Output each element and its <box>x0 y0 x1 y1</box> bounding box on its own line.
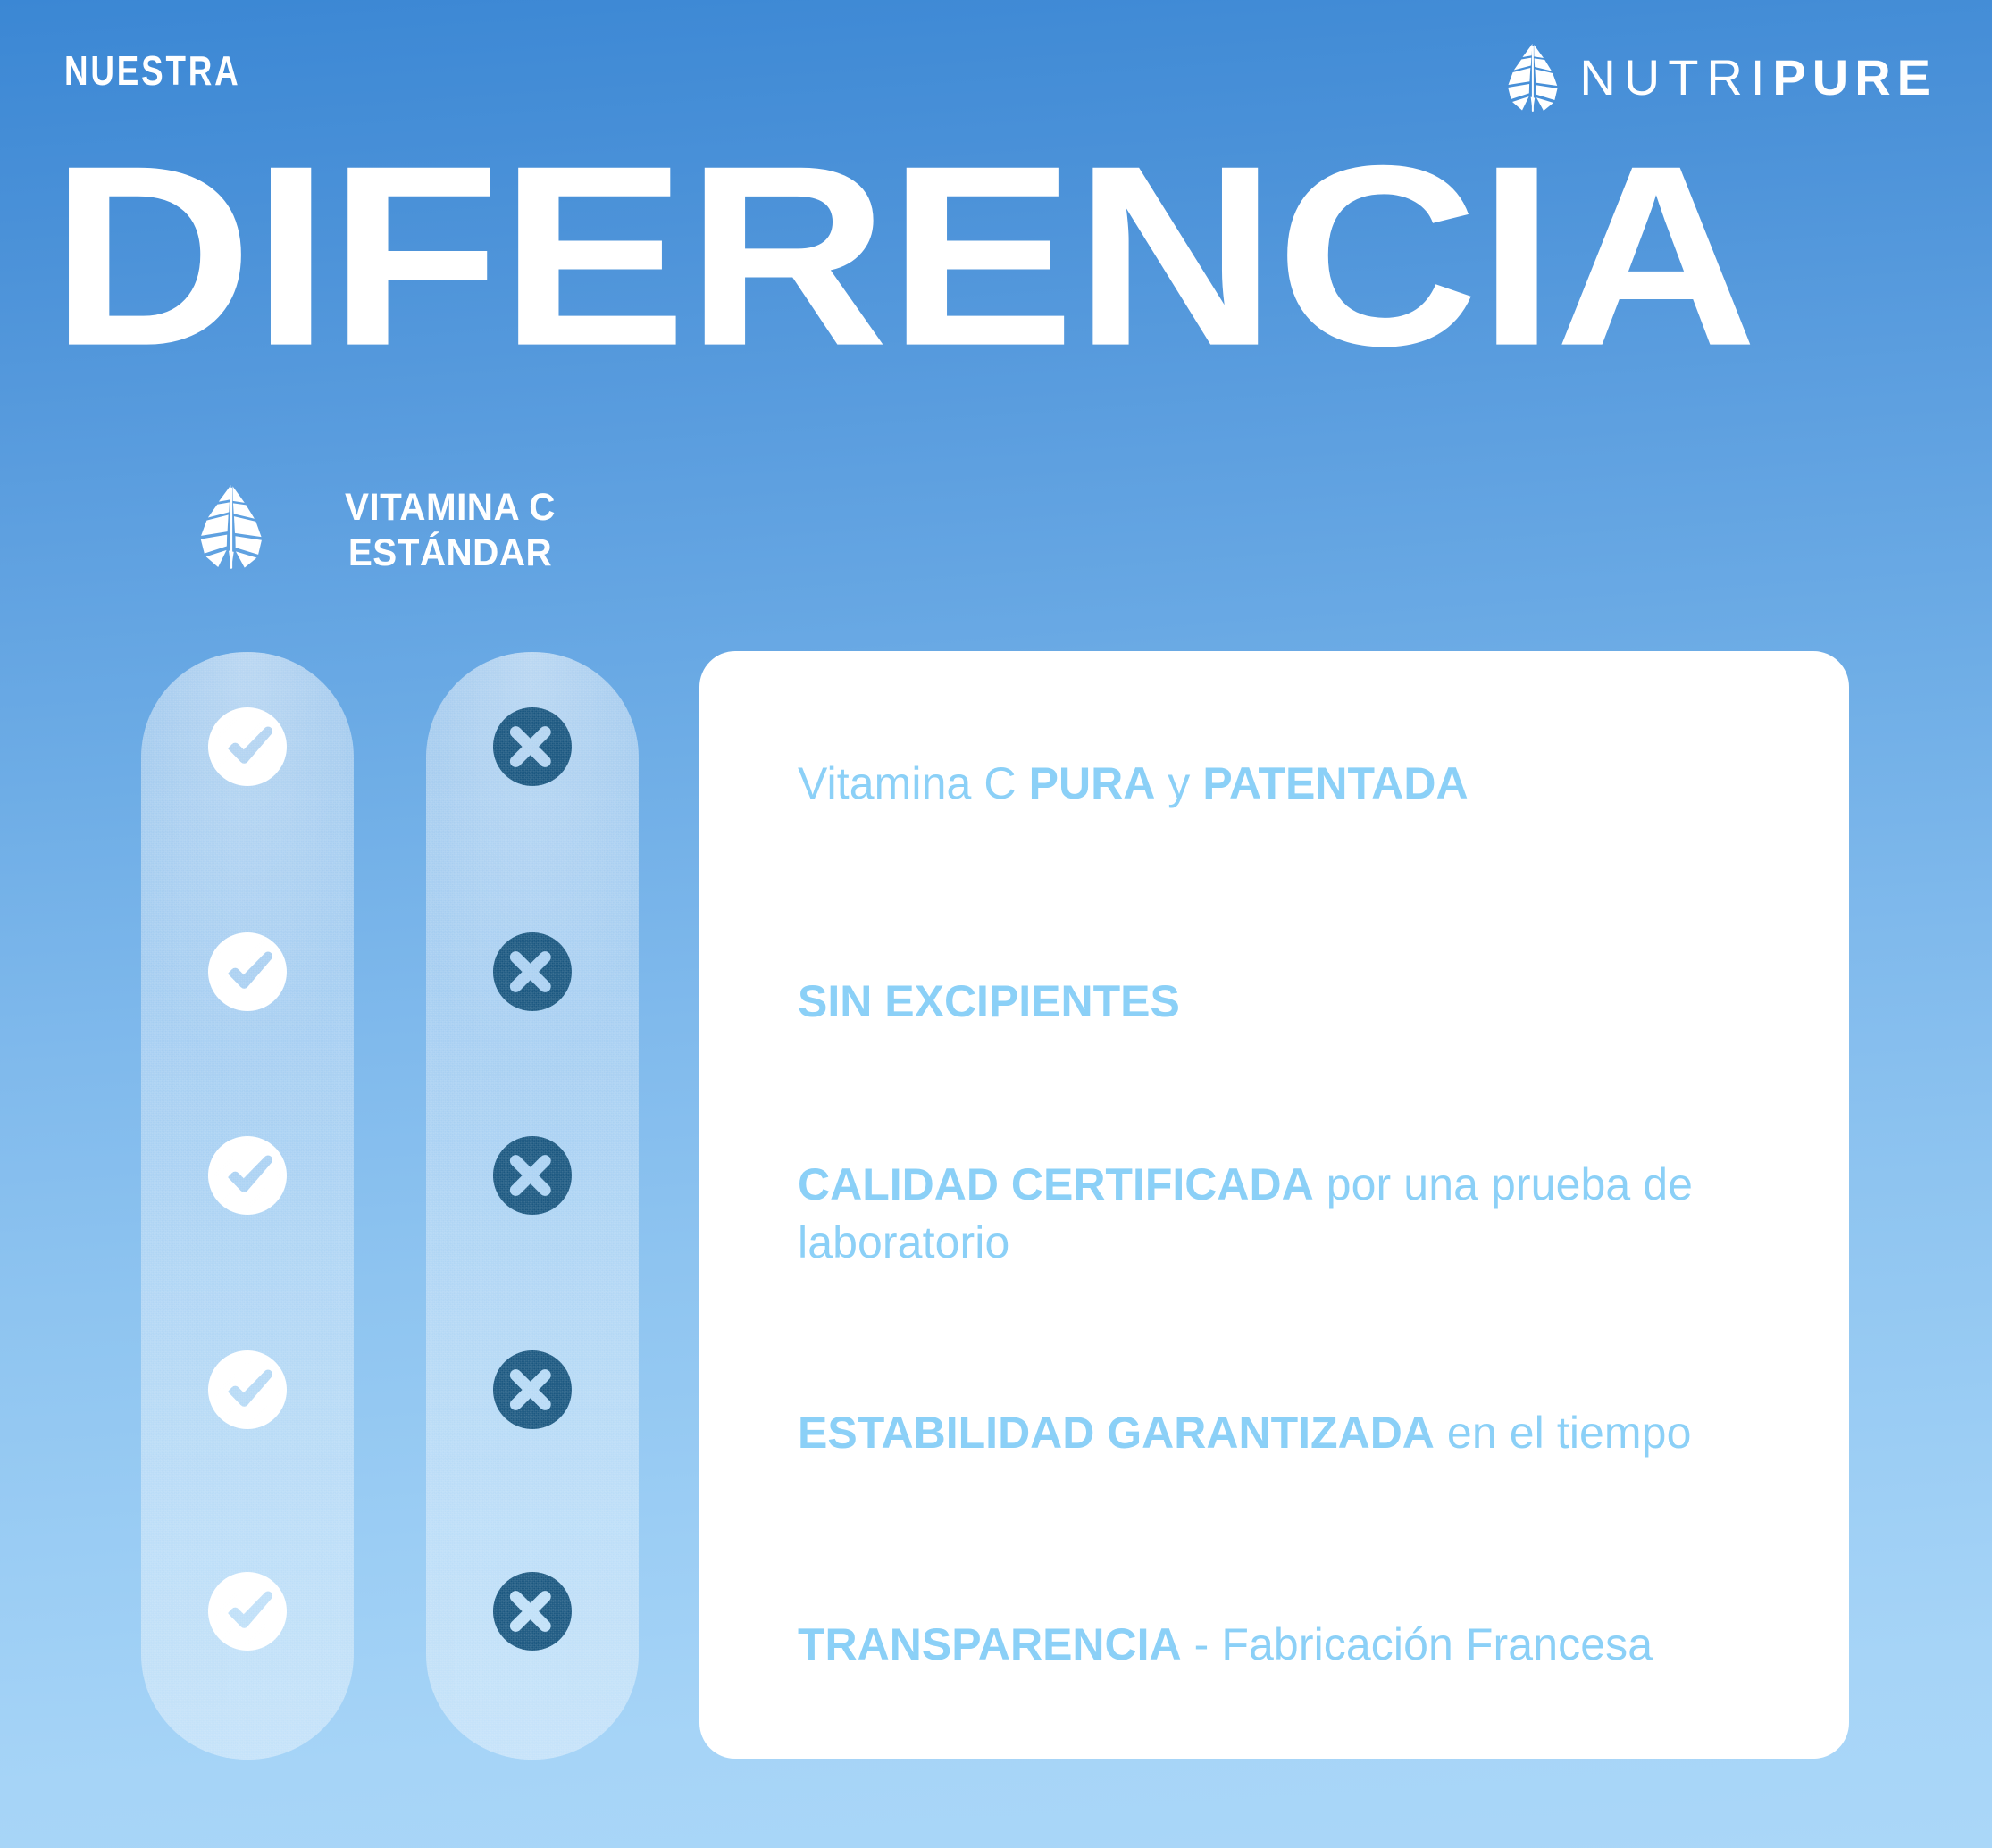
check-icon <box>206 1134 289 1217</box>
check-icon <box>206 931 289 1013</box>
features-card: Vitamina C PURA y PATENTADA SIN EXCIPIEN… <box>699 651 1849 1759</box>
cross-icon <box>491 706 573 788</box>
cross-icon <box>491 931 573 1013</box>
cross-icon <box>491 1570 573 1652</box>
column-standard <box>426 652 639 1760</box>
check-icon <box>206 1349 289 1431</box>
brand-name-light: NUTRI <box>1579 49 1772 105</box>
check-icon <box>206 1570 289 1652</box>
column-header-standard-line1: VITAMINA C <box>324 485 576 531</box>
column-header-standard: VITAMINA C ESTÁNDAR <box>324 485 576 575</box>
column-header-leaf-icon <box>198 478 264 576</box>
brand-name: NUTRIPURE <box>1579 53 1937 103</box>
header: NUESTRA NUTRIPURE DIFERENCIA <box>0 0 1992 447</box>
cross-icon <box>491 1134 573 1217</box>
feature-row-text: TRANSPARENCIA - Fabricación Francesa <box>798 1616 1762 1674</box>
check-icon <box>206 706 289 788</box>
feature-row-text: Vitamina C PURA y PATENTADA <box>798 755 1762 813</box>
feature-row-text: SIN EXCIPIENTES <box>798 973 1762 1031</box>
feature-row-text: ESTABILIDAD GARANTIZADA en el tiempo <box>798 1404 1762 1462</box>
eyebrow-label: NUESTRA <box>64 46 240 95</box>
page-title: DIFERENCIA <box>50 134 1756 378</box>
column-header-standard-line2: ESTÁNDAR <box>324 531 576 576</box>
cross-icon <box>491 1349 573 1431</box>
brand-logo: NUTRIPURE <box>1506 43 1937 113</box>
feature-row-text: CALIDAD CERTIFICADA por una prueba de la… <box>798 1156 1762 1272</box>
leaf-icon <box>1506 43 1560 113</box>
column-nutripure <box>141 652 354 1760</box>
brand-name-bold: PURE <box>1772 49 1937 105</box>
